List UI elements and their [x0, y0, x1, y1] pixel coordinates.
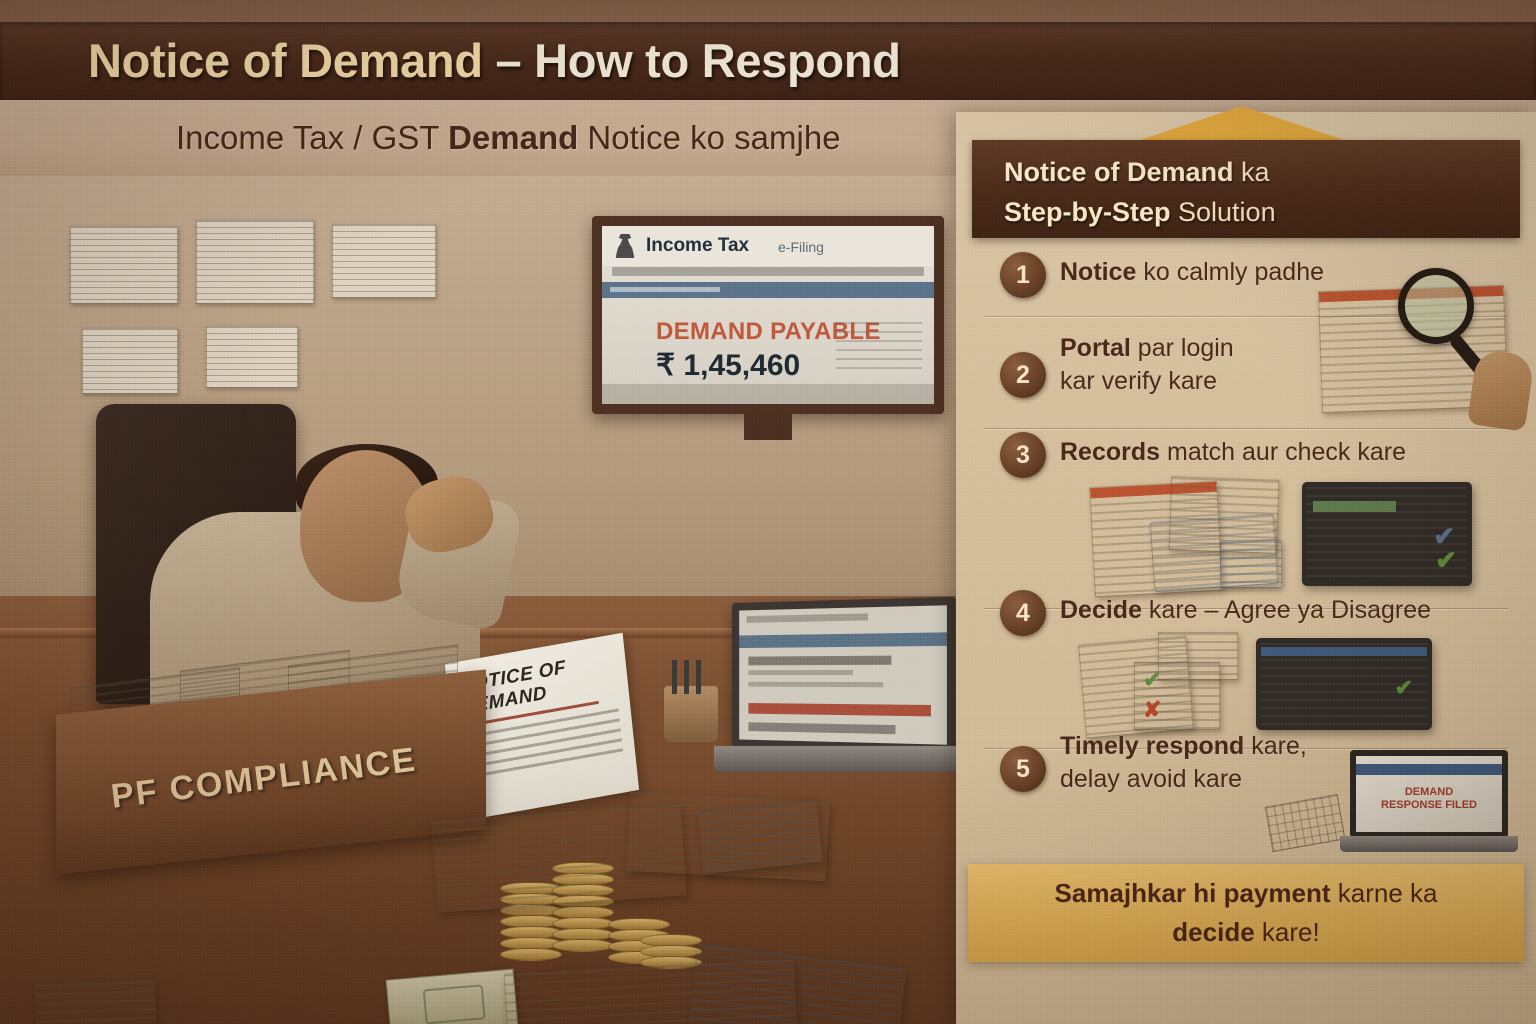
portal-dept-line	[612, 267, 924, 276]
subtitle-part-c: Notice ko samjhe	[578, 119, 840, 156]
laptop-screen-title	[748, 656, 891, 666]
step-5-rest: kare,	[1244, 732, 1307, 760]
id-card-icon	[1220, 540, 1282, 588]
check-mark-icon: ✔	[1435, 547, 1457, 573]
steps-list: 1 Notice ko calmly padhe 2 Portal par lo…	[956, 240, 1536, 860]
footer-rest-2: kare!	[1255, 917, 1320, 947]
laptop-screen-line	[748, 682, 882, 687]
desktop-monitor: Income Tax e-Filing DEMAND PAYABLE ₹ 1,4…	[592, 216, 944, 414]
step-badge-3: 3	[1000, 432, 1046, 478]
portal-title: Income Tax	[646, 235, 749, 257]
page-subtitle: Income Tax / GST Demand Notice ko samjhe	[176, 116, 841, 160]
title-bold-part: Notice of Demand	[88, 34, 483, 87]
footer-rest-1: karne ka	[1331, 878, 1438, 908]
tablet-icon: ✔	[1256, 638, 1432, 730]
step-1-bold: Notice	[1060, 258, 1136, 286]
step-5-rest2: delay avoid kare	[1060, 765, 1242, 793]
portal-side-text	[836, 322, 922, 376]
panel-gold-tab	[1140, 106, 1344, 140]
office-scene: Income Tax e-Filing DEMAND PAYABLE ₹ 1,4…	[0, 176, 960, 1024]
wall-note	[70, 226, 178, 304]
step-divider	[984, 428, 1508, 429]
step-badge-2: 2	[1000, 352, 1046, 398]
wall-note	[332, 224, 436, 298]
pen-icon	[696, 660, 701, 694]
panel-head-bold-2: Step-by-Step	[1004, 197, 1171, 227]
footer-bold-1: Samajhkar hi payment	[1055, 878, 1331, 908]
monitor-stand	[744, 414, 792, 440]
step-4-rest: kare – Agree ya Disagree	[1142, 596, 1431, 624]
footer-message: Samajhkar hi payment karne ka decide kar…	[968, 874, 1524, 952]
tablet-screen: ✔	[1261, 643, 1427, 725]
laptop-screen-line	[748, 670, 853, 675]
title-rest-part: – How to Respond	[483, 34, 901, 87]
tablet-icon: ✔ ✔	[1302, 482, 1472, 586]
magnifying-glass-icon	[1398, 268, 1474, 344]
step-5-bold: Timely respond	[1060, 732, 1244, 760]
notice-body-lines	[464, 708, 622, 778]
cross-mark-icon: ✘	[1143, 699, 1161, 721]
page-title: Notice of Demand – How to Respond	[88, 28, 901, 94]
step-3-rest: match aur check kare	[1160, 438, 1406, 466]
panel-head-rest-1: ka	[1234, 157, 1270, 187]
step4-decision-card: ✔ ✘	[1134, 662, 1220, 730]
tablet-screen: ✔ ✔	[1307, 487, 1467, 581]
panel-head-rest-2: Solution	[1171, 197, 1276, 227]
tablet-navbar	[1261, 647, 1427, 656]
wall-note	[82, 328, 178, 394]
step-1-rest: ko calmly padhe	[1136, 258, 1324, 286]
check-mark-icon: ✔	[1143, 669, 1161, 691]
step-text-3: Records match aur check kare	[1060, 436, 1530, 469]
wall-note	[196, 220, 314, 304]
step-text-2: Portal par login kar verify kare	[1060, 332, 1310, 398]
laptop-base	[714, 746, 960, 772]
subtitle-part-a: Income Tax / GST	[176, 119, 448, 156]
laptop-screen-alert	[748, 703, 930, 716]
panel-head-bold-1: Notice of Demand	[1004, 157, 1234, 187]
laptop-screen-header	[747, 613, 868, 623]
step-badge-5: 5	[1000, 746, 1046, 792]
step-2-bold: Portal	[1060, 334, 1131, 362]
pen-icon	[684, 660, 689, 694]
step-2-rest: par login	[1131, 334, 1234, 362]
step-text-5: Timely respond kare, delay avoid kare	[1060, 730, 1360, 796]
step-badge-1: 1	[1000, 252, 1046, 298]
infographic-poster: Notice of Demand – How to Respond Income…	[0, 0, 1536, 1024]
tablet-highlight-bar	[1313, 501, 1396, 512]
step-text-4: Decide kare – Agree ya Disagree	[1060, 594, 1536, 627]
laptop-screen-navbar	[739, 632, 947, 648]
laptop-lid	[732, 597, 956, 754]
desk-document	[697, 800, 823, 874]
panel-header-title: Notice of Demand ka Step-by-Step Solutio…	[1004, 152, 1524, 232]
laptop-screen	[739, 605, 947, 744]
subtitle-part-b: Demand	[448, 119, 578, 156]
step-2-rest2: kar verify kare	[1060, 367, 1217, 395]
portal-footer-bar	[602, 384, 934, 404]
footer-bold-2: decide	[1172, 917, 1254, 947]
wall-note	[206, 326, 298, 388]
laptop-screen-footer	[748, 722, 895, 734]
portal-subtitle: e-Filing	[778, 239, 824, 255]
step-badge-4: 4	[1000, 590, 1046, 636]
portal-nav-bar	[602, 282, 934, 298]
check-mark-icon: ✔	[1395, 677, 1413, 699]
desk-document	[35, 980, 157, 1024]
demand-amount-value: ₹ 1,45,460	[656, 348, 800, 383]
laptop-icon	[726, 600, 952, 776]
pencil-cup	[664, 686, 718, 742]
pen-icon	[672, 660, 677, 694]
monitor-screen: Income Tax e-Filing DEMAND PAYABLE ₹ 1,4…	[602, 226, 934, 404]
step-3-bold: Records	[1060, 438, 1160, 466]
step-4-bold: Decide	[1060, 596, 1142, 624]
